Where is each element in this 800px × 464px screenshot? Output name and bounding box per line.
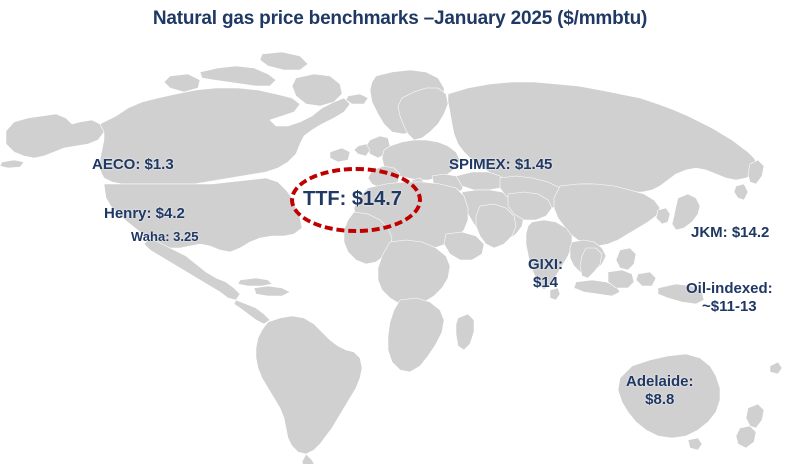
ellesmere xyxy=(260,52,308,70)
benchmark-label-ttf: TTF: $14.7 xyxy=(303,188,402,212)
benchmark-label-gixi-name: GIXI: xyxy=(528,256,563,274)
south-america-tip xyxy=(302,454,316,464)
philippines xyxy=(616,248,636,270)
canadian-arctic-islands xyxy=(200,66,276,86)
tasmania xyxy=(688,438,702,450)
central-america xyxy=(234,300,270,324)
benchmark-label-waha: Waha: 3.25 xyxy=(131,229,198,244)
south-america xyxy=(256,316,362,454)
benchmark-label-gixi: GIXI: $14 xyxy=(528,256,563,291)
benchmark-label-jkm: JKM: $14.2 xyxy=(691,224,769,242)
benchmark-label-oil-indexed-name: Oil-indexed: xyxy=(686,280,773,298)
benchmark-label-adelaide-name: Adelaide: xyxy=(626,373,694,391)
baffin-island xyxy=(292,74,342,106)
sulawesi-islands xyxy=(636,272,656,286)
new-zealand-south xyxy=(736,426,756,448)
benchmark-label-spimex: SPIMEX: $1.45 xyxy=(449,156,552,174)
benchmark-label-adelaide: Adelaide: $8.8 xyxy=(626,373,694,408)
aleutians xyxy=(0,160,24,168)
central-africa xyxy=(378,240,450,306)
sakhalin xyxy=(734,184,748,200)
benchmark-label-oil-indexed: Oil-indexed: ~$11-13 xyxy=(686,280,773,315)
korea xyxy=(656,208,670,224)
slide-canvas: Natural gas price benchmarks –January 20… xyxy=(0,0,800,464)
benchmark-label-oil-indexed-value: ~$11-13 xyxy=(686,298,773,316)
madagascar xyxy=(456,314,474,350)
cuba xyxy=(238,278,272,286)
kamchatka xyxy=(748,160,764,184)
victoria-island xyxy=(164,74,200,92)
benchmark-label-gixi-value: $14 xyxy=(528,274,563,292)
pacific-islands xyxy=(770,362,782,374)
alaska xyxy=(6,114,104,158)
benchmark-label-adelaide-value: $8.8 xyxy=(626,391,694,409)
southern-africa xyxy=(388,298,444,372)
benchmark-label-aeco: AECO: $1.3 xyxy=(92,156,174,174)
benchmark-label-henry: Henry: $4.2 xyxy=(104,205,185,223)
newfoundland xyxy=(330,148,350,162)
iceland xyxy=(346,94,368,104)
east-africa-horn xyxy=(444,232,484,260)
caribbean-islands xyxy=(254,286,290,296)
new-zealand xyxy=(746,404,764,428)
page-title: Natural gas price benchmarks –January 20… xyxy=(0,8,800,30)
